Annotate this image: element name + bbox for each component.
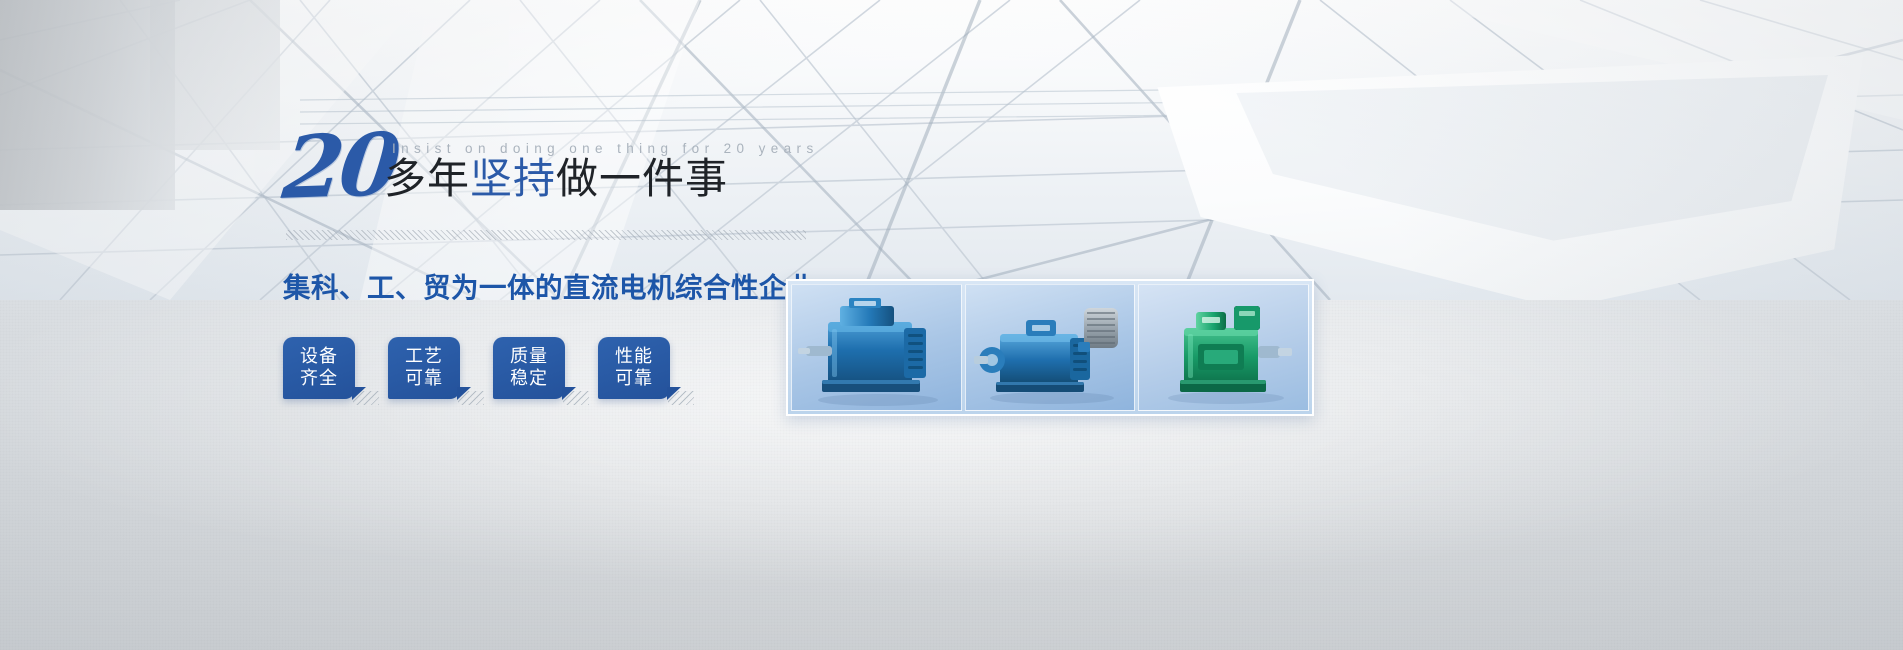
dc-motor-green-icon [1140,284,1308,411]
feature-badge-equipment[interactable]: 设备 齐全 [283,337,355,399]
feature-badge-list: 设备 齐全 工艺 可靠 质量 稳定 性能 可靠 [283,337,670,399]
headline-chinese: 多年坚持做一件事 [384,158,728,200]
product-cell-2[interactable] [965,284,1136,411]
years-number: 20 [279,122,400,212]
feature-badge-craft[interactable]: 工艺 可靠 [388,337,460,399]
product-cell-3[interactable] [1138,284,1309,411]
headline-group: 20 Insist on doing one thing for 20 year… [284,138,924,218]
dc-motor-blue-large-icon [792,284,960,411]
badge-hatch-accent [353,391,379,405]
headline-prefix: 多年 [384,155,470,202]
badge-hatch-accent [458,391,484,405]
product-showcase-panel [786,279,1314,416]
badge-line-2: 稳定 [510,368,548,390]
headline-highlight: 坚持 [470,155,556,202]
badge-line-1: 工艺 [405,346,443,368]
english-tagline: Insist on doing one thing for 20 years [392,141,819,156]
badge-line-1: 设备 [300,346,338,368]
badge-line-2: 齐全 [300,368,338,390]
badge-line-2: 可靠 [405,368,443,390]
hatched-divider [286,230,806,240]
badge-line-1: 性能 [615,346,653,368]
product-cell-1[interactable] [791,284,962,411]
badge-hatch-accent [668,391,694,405]
feature-badge-quality[interactable]: 质量 稳定 [493,337,565,399]
badge-hatch-accent [563,391,589,405]
banner-subtitle: 集科、工、贸为一体的直流电机综合性企业 [283,265,815,305]
banner-content: 20 Insist on doing one thing for 20 year… [0,0,1903,650]
hero-banner: 20 Insist on doing one thing for 20 year… [0,0,1903,650]
headline-suffix: 做一件事 [556,155,728,202]
badge-line-2: 可靠 [615,368,653,390]
dc-motor-blue-fan-icon [966,284,1134,411]
badge-line-1: 质量 [510,346,548,368]
feature-badge-performance[interactable]: 性能 可靠 [598,337,670,399]
